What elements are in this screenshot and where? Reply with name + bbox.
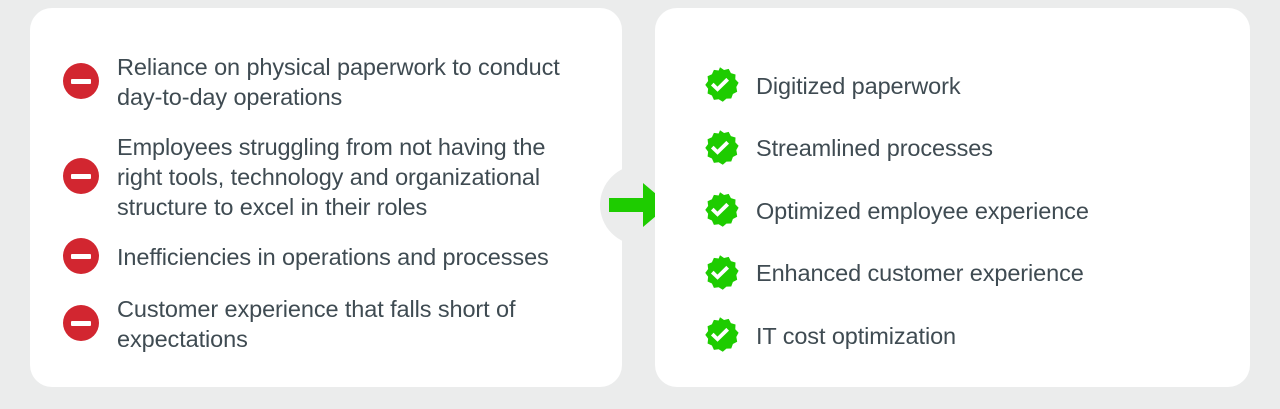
outcome-label: Streamlined processes: [756, 133, 993, 162]
list-item: Customer experience that falls short of …: [63, 288, 603, 354]
pain-points-list: Reliance on physical paperwork to conduc…: [63, 46, 603, 372]
check-badge-icon: [701, 129, 739, 167]
list-item: Optimized employee experience: [701, 191, 1221, 229]
minus-circle-icon: [63, 238, 99, 274]
list-item: Enhanced customer experience: [701, 254, 1221, 292]
check-badge-icon: [701, 66, 739, 104]
list-item: IT cost optimization: [701, 316, 1221, 354]
list-item: Employees struggling from not having the…: [63, 126, 603, 222]
list-item: Inefficiencies in operations and process…: [63, 236, 603, 274]
pain-point-label: Customer experience that falls short of …: [117, 288, 515, 354]
outcome-label: Enhanced customer experience: [756, 258, 1084, 287]
comparison-infographic: Reliance on physical paperwork to conduc…: [0, 0, 1280, 409]
outcome-label: Digitized paperwork: [756, 71, 960, 100]
minus-circle-icon: [63, 63, 99, 99]
pain-points-card: Reliance on physical paperwork to conduc…: [30, 8, 622, 387]
list-item: Streamlined processes: [701, 129, 1221, 167]
outcome-label: Optimized employee experience: [756, 196, 1089, 225]
check-badge-icon: [701, 316, 739, 354]
check-badge-icon: [701, 254, 739, 292]
outcome-label: IT cost optimization: [756, 321, 956, 350]
pain-point-label: Inefficiencies in operations and process…: [117, 236, 549, 272]
minus-circle-icon: [63, 305, 99, 341]
pain-point-label: Employees struggling from not having the…: [117, 126, 545, 222]
outcomes-list: Digitized paperwork Streamlined processe…: [701, 66, 1221, 379]
check-badge-icon: [701, 191, 739, 229]
minus-circle-icon: [63, 158, 99, 194]
outcomes-card: Digitized paperwork Streamlined processe…: [655, 8, 1250, 387]
pain-point-label: Reliance on physical paperwork to conduc…: [117, 46, 560, 112]
list-item: Digitized paperwork: [701, 66, 1221, 104]
list-item: Reliance on physical paperwork to conduc…: [63, 46, 603, 112]
